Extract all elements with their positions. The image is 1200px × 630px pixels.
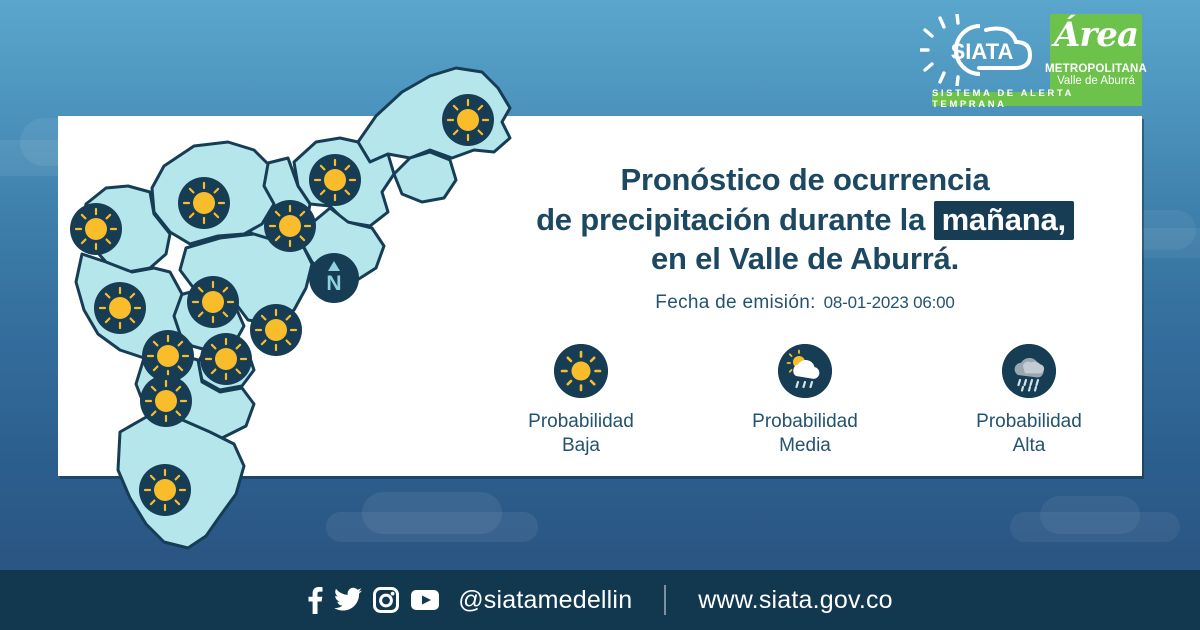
probability-legend: Probabilidad Baja [470,344,1140,459]
legend-item-baja: Probabilidad Baja [506,344,656,459]
emission-date-label: Fecha de emisión: [655,292,815,314]
forecast-content: Pronóstico de ocurrencia de precipitació… [470,160,1140,459]
legend-item-alta: Probabilidad Alta [954,344,1104,459]
cloud-rain-icon [1002,344,1056,398]
legend-label-alta: Probabilidad Alta [976,410,1082,459]
sun-icon [554,344,608,398]
map-marker-sun [250,304,302,356]
social-icon-group [307,586,440,614]
title-line-2: de precipitación durante la mañana, [470,200,1140,240]
legend-label-baja-line2: Baja [528,434,634,458]
title-line-1: Pronóstico de ocurrencia [470,160,1140,200]
siata-tagline: SISTEMA DE ALERTA TEMPRANA [932,92,1142,106]
map-marker-sun [142,330,194,382]
legend-label-alta-line1: Probabilidad [976,410,1082,434]
facebook-icon[interactable] [307,586,323,614]
area-metropolitana-logo: Área METROPOLITANA Valle de Aburrá [1050,14,1142,92]
area-logo-line1: METROPOLITANA [1045,63,1147,75]
legend-label-baja-line1: Probabilidad [528,410,634,434]
map-marker-sun [139,464,191,516]
title-line-3: en el Valle de Aburrá. [470,239,1140,279]
emission-date-value: 08-01-2023 06:00 [824,293,955,313]
legend-label-media-line2: Media [752,434,858,458]
title-line-2-text: de precipitación durante la [536,202,925,237]
map-marker-sun [70,203,122,255]
map-marker-sun [200,333,252,385]
twitter-icon[interactable] [334,587,362,613]
legend-label-alta-line2: Alta [976,434,1082,458]
map-marker-sun [309,154,361,206]
compass-rose: N [309,253,359,303]
infographic-canvas: SIATA Área METROPOLITANA Valle de Aburrá… [0,0,1200,630]
website-url[interactable]: www.siata.gov.co [698,586,892,615]
map-marker-sun [178,177,230,229]
map-region-east-sliver [394,152,456,202]
footer-bar: @siatamedellin www.siata.gov.co [0,570,1200,630]
legend-label-baja: Probabilidad Baja [528,410,634,459]
emission-date-row: Fecha de emisión: 08-01-2023 06:00 [470,292,1140,314]
area-logo-line2: Valle de Aburrá [1057,75,1135,88]
footer-divider [664,585,666,615]
siata-logo: SIATA [920,14,1040,86]
legend-label-media: Probabilidad Media [752,410,858,459]
legend-item-media: Probabilidad Media [730,344,880,459]
map-marker-sun [264,200,316,252]
legend-label-media-line1: Probabilidad [752,410,858,434]
compass-label: N [326,272,341,295]
social-handle[interactable]: @siatamedellin [458,586,632,615]
siata-logo-text: SIATA [951,39,1014,64]
sun-cloud-rain-icon [778,344,832,398]
area-logo-script: Área [1050,18,1142,52]
map-marker-sun [140,375,192,427]
page-title: Pronóstico de ocurrencia de precipitació… [470,160,1140,279]
map-marker-sun [442,94,494,146]
logo-group: SIATA Área METROPOLITANA Valle de Aburrá [920,14,1142,92]
instagram-icon[interactable] [373,587,399,613]
map-marker-sun [187,276,239,328]
title-highlight-period: mañana, [934,201,1074,240]
siata-logo-icon: SIATA [920,14,1040,86]
map-marker-sun [94,282,146,334]
youtube-icon[interactable] [410,589,440,611]
aburra-valley-map: N [58,46,528,566]
